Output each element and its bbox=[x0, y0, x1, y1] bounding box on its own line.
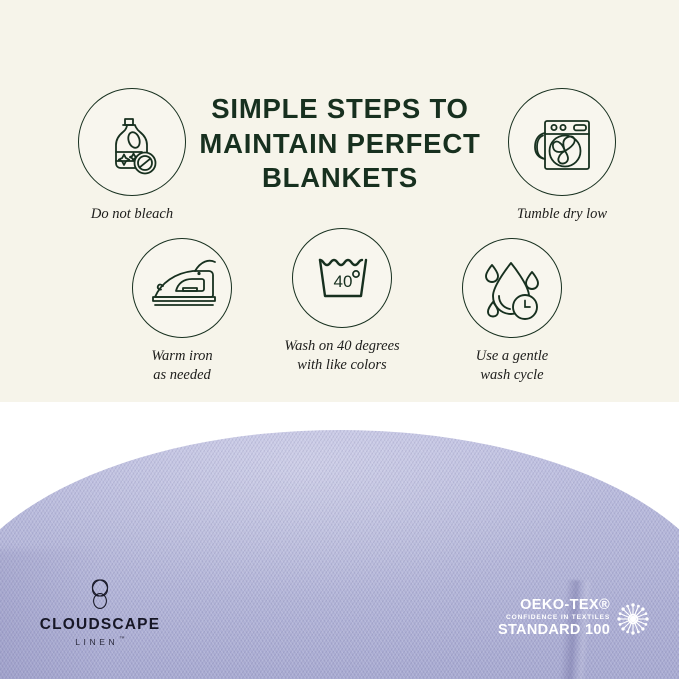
brand-subtitle: LINEN bbox=[75, 637, 118, 647]
infinity-loop-logo-icon bbox=[85, 578, 115, 612]
care-item-label: Tumble dry low bbox=[498, 205, 626, 224]
care-item-do-not-bleach: Do not bleach bbox=[68, 88, 196, 224]
care-item-tumble-dry-low: Tumble dry low bbox=[498, 88, 626, 224]
brand-logo: CLOUDSCAPE LINEN ™ bbox=[20, 578, 180, 647]
product-infographic: SIMPLE STEPS TO MAINTAIN PERFECT BLANKET… bbox=[0, 0, 679, 679]
care-item-warm-iron: Warm iron as needed bbox=[118, 238, 246, 385]
wash-tub-40-degrees-icon: 40 bbox=[293, 229, 393, 329]
care-item-wash-40-degrees: 40 Wash on 40 degrees with like colors bbox=[278, 228, 406, 375]
care-icon-circle: 40 bbox=[292, 228, 392, 328]
care-icon-circle bbox=[508, 88, 616, 196]
oekotex-text-block: OEKO-TEX® CONFIDENCE IN TEXTILES STANDAR… bbox=[498, 598, 610, 639]
bleach-bottle-prohibited-icon bbox=[79, 89, 187, 197]
care-item-gentle-wash-cycle: Use a gentle wash cycle bbox=[448, 238, 576, 385]
oekotex-snowflake-icon bbox=[616, 602, 650, 636]
care-icon-circle bbox=[132, 238, 232, 338]
care-item-label: Do not bleach bbox=[68, 205, 196, 224]
care-instructions-panel: SIMPLE STEPS TO MAINTAIN PERFECT BLANKET… bbox=[0, 0, 679, 420]
trademark-symbol: ™ bbox=[119, 637, 125, 643]
care-item-label: Use a gentle wash cycle bbox=[448, 347, 576, 385]
care-icon-circle bbox=[78, 88, 186, 196]
brand-subtitle-row: LINEN ™ bbox=[20, 637, 180, 647]
care-item-label: Warm iron as needed bbox=[118, 347, 246, 385]
iron-icon bbox=[133, 239, 233, 339]
care-item-label: Wash on 40 degrees with like colors bbox=[278, 337, 406, 375]
care-icon-circle bbox=[462, 238, 562, 338]
page-title: SIMPLE STEPS TO MAINTAIN PERFECT BLANKET… bbox=[178, 92, 502, 196]
oekotex-title: OEKO-TEX® bbox=[498, 598, 610, 613]
wash-temperature-value: 40 bbox=[334, 272, 353, 291]
brand-name: CLOUDSCAPE bbox=[20, 616, 180, 634]
oekotex-standard: STANDARD 100 bbox=[498, 623, 610, 639]
tumble-dryer-icon bbox=[509, 89, 617, 197]
water-droplet-clock-icon bbox=[463, 239, 563, 339]
oekotex-certification-badge: OEKO-TEX® CONFIDENCE IN TEXTILES STANDAR… bbox=[498, 598, 650, 639]
